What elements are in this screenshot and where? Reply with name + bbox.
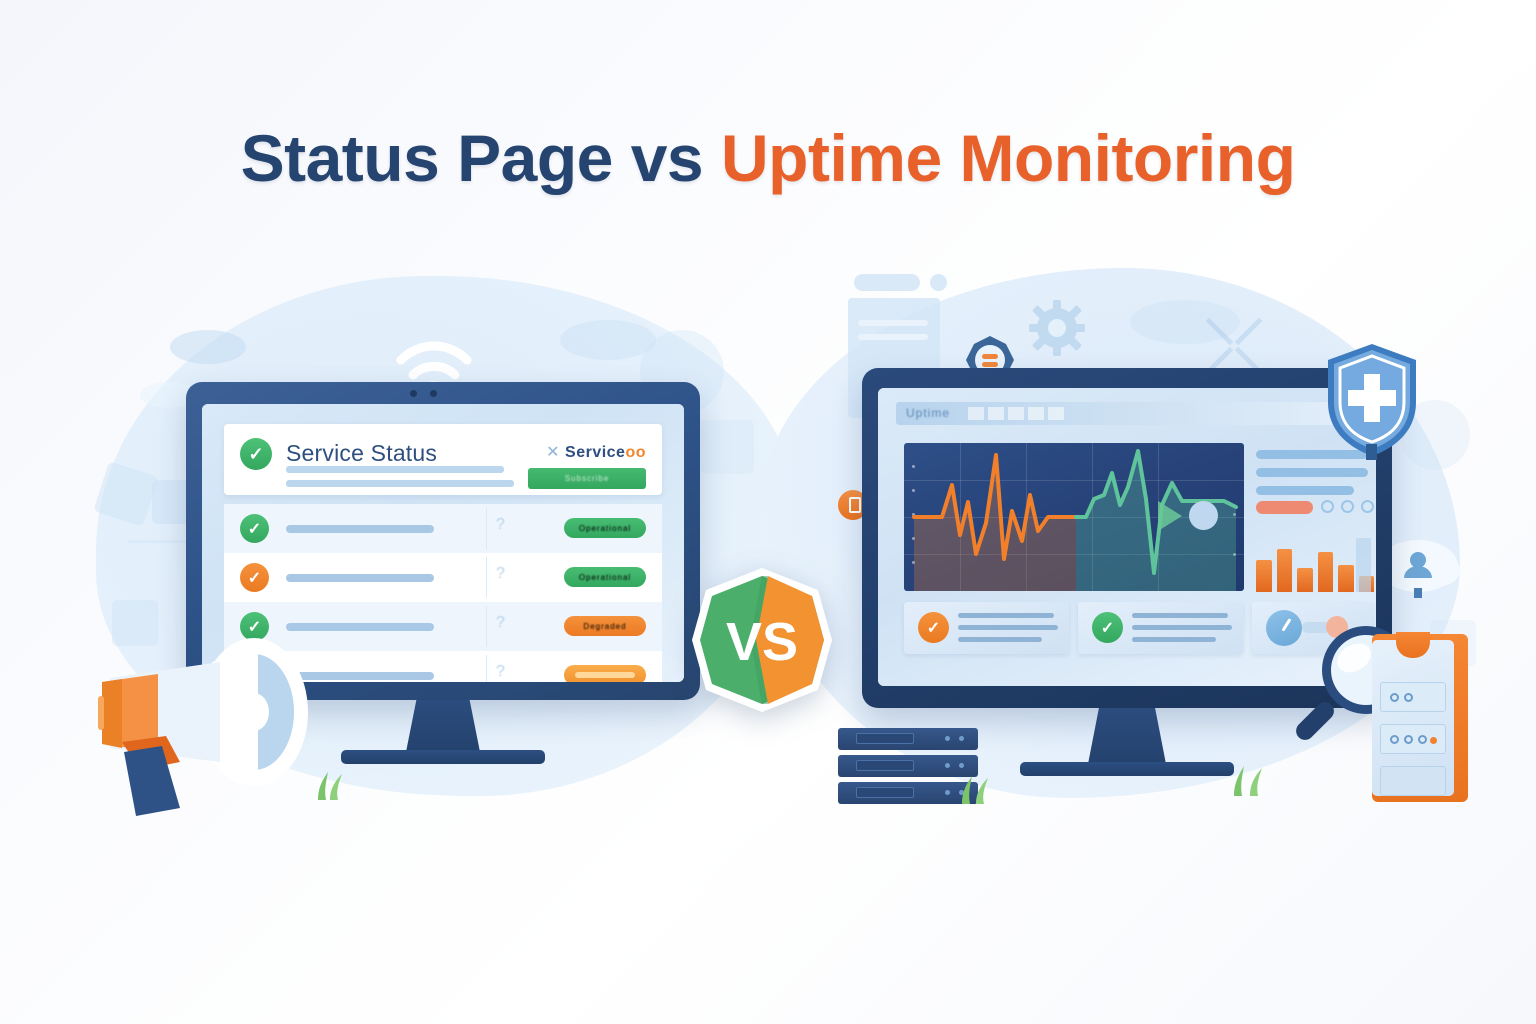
decor-cloud-icon [170,330,246,364]
check-circle-icon: ✓ [240,563,269,592]
alert-pill [1256,501,1313,514]
status-page-title: Service Status [286,440,437,467]
status-badge-label: Degraded [564,616,646,636]
status-badge-label: Operational [564,567,646,587]
metric-rings [1321,500,1374,513]
page-title: Status Page vs Uptime Monitoring [0,120,1536,196]
decor-shape [700,420,754,474]
row-value: ? [496,565,505,583]
subscribe-button-label: Subscribe [528,468,646,489]
row-value: ? [496,516,505,534]
logo-tail: oo [625,444,646,461]
server-stack-icon [838,728,978,806]
check-circle-icon: ✓ [918,612,949,643]
bar [1338,565,1354,592]
subscribe-button[interactable]: Subscribe [528,468,646,489]
toolbar-title: Uptime [906,406,950,420]
status-page-logo: ✕Serviceoo [546,442,646,462]
bar [1318,552,1334,593]
bar-ghost [1356,538,1371,592]
monitor-led [410,390,417,397]
bar-chart [1256,538,1374,592]
waveform-chart [904,443,1244,591]
toolbar-chips [968,407,1064,420]
bar [1277,549,1293,592]
vs-badge-label: VS [726,612,798,672]
check-circle-icon: ✓ [240,514,269,543]
decor-cloud-icon [560,320,656,360]
info-card[interactable]: ✓ [1078,602,1243,654]
status-badge: Degraded [564,616,646,636]
status-badge: Operational [564,567,646,587]
vs-badge: VS [686,564,838,716]
status-page-header-card: ✓ Service Status ✕Serviceoo Subscribe [224,424,662,495]
monitor-neck [406,700,480,752]
play-triangle-icon [1158,501,1182,531]
row-label-placeholder [286,525,434,533]
status-badge: Operational [564,518,646,538]
page-title-primary: Status Page vs [241,121,721,195]
clipboard-icon [1372,634,1468,802]
row-divider [486,508,487,549]
placeholder-bar [286,480,514,487]
decor-grass [1228,764,1272,796]
row-divider [486,606,487,647]
gear-icon [1029,300,1085,356]
placeholder-bar [286,466,504,473]
status-badge-label: Operational [564,518,646,538]
info-card[interactable]: ✓ [904,602,1069,654]
logo-mark-icon: ✕ [546,444,560,461]
table-row[interactable]: ✓ ? Operational [224,504,662,553]
status-dot [1189,501,1218,530]
row-value: ? [496,663,505,681]
row-divider [486,655,487,682]
logo-text: Service [565,444,625,461]
check-circle-icon: ✓ [240,438,272,470]
info-card-lines [1132,613,1231,649]
table-row[interactable]: ✓ ? Operational [224,553,662,602]
row-divider [486,557,487,598]
monitor-neck [1088,708,1166,764]
megaphone-icon [62,630,322,820]
row-label-placeholder [286,574,434,582]
dashboard-toolbar[interactable]: Uptime [896,402,1358,425]
monitor-base [1020,762,1234,776]
check-circle-icon: ✓ [1092,612,1123,643]
monitor-led [430,390,437,397]
status-badge [564,665,646,682]
illustration-canvas: Status Page vs Uptime Monitoring [0,0,1536,1024]
shield-health-icon [1322,340,1422,460]
decor-shape [93,461,159,527]
monitor-base [341,750,545,764]
bar [1297,568,1313,592]
bar [1256,560,1272,592]
page-title-accent: Uptime Monitoring [721,121,1295,195]
row-value: ? [496,614,505,632]
info-card-lines [958,613,1057,649]
